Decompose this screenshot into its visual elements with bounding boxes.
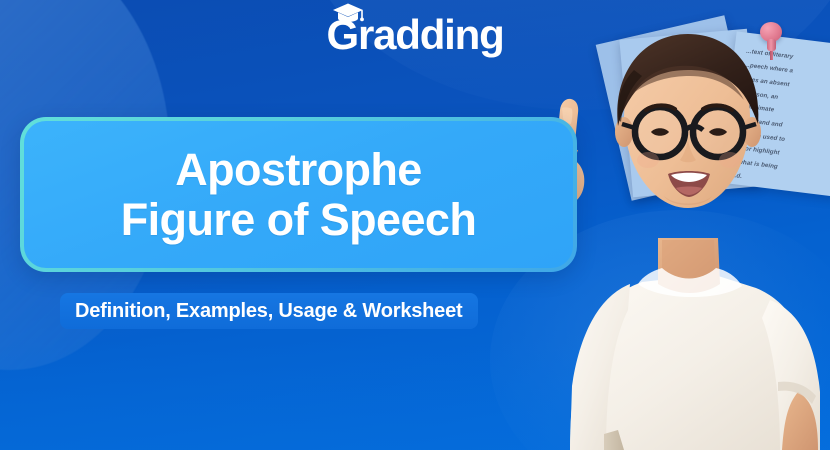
banner: ...text of literary ...peech where a ...… bbox=[0, 0, 830, 450]
title-card: Apostrophe Figure of Speech bbox=[20, 117, 577, 272]
title-card-inner: Apostrophe Figure of Speech bbox=[24, 121, 573, 268]
subtitle-text: Definition, Examples, Usage & Worksheet bbox=[75, 300, 463, 323]
page-title-line-2: Figure of Speech bbox=[121, 195, 476, 244]
graduation-cap-icon bbox=[331, 1, 365, 23]
subtitle-badge: Definition, Examples, Usage & Worksheet bbox=[60, 293, 478, 329]
page-title-line-1: Apostrophe bbox=[175, 145, 422, 194]
brand-logo[interactable]: Gradding bbox=[0, 14, 830, 56]
